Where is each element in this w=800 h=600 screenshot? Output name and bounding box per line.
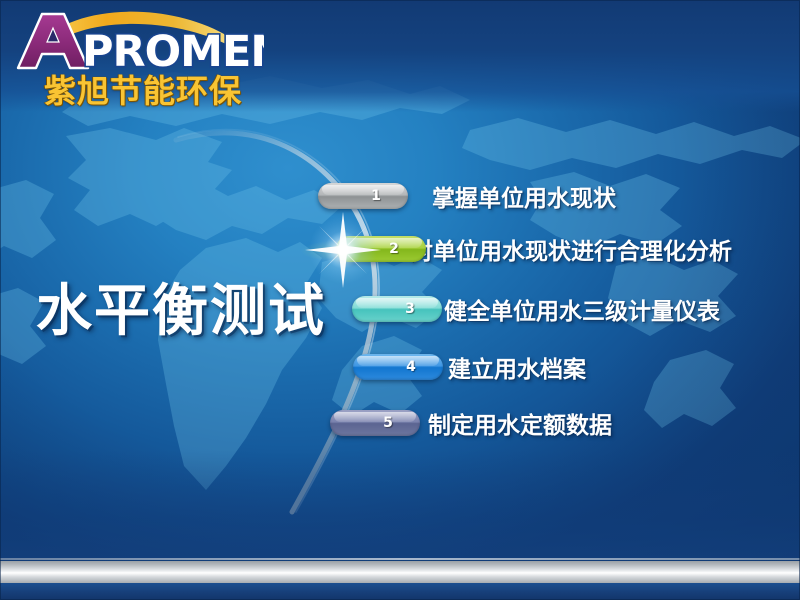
list-item[interactable]: 2 对单位用水现状进行合理化分析	[0, 234, 732, 264]
silver-divider-band	[0, 558, 800, 600]
list-item[interactable]: 5 制定用水定额数据	[0, 408, 612, 438]
step-number-badge[interactable]: 3	[352, 296, 442, 322]
list-item[interactable]: 3 健全单位用水三级计量仪表	[0, 294, 720, 324]
list-item[interactable]: 1 掌握单位用水现状	[0, 181, 616, 211]
band-footer-fill	[0, 583, 800, 600]
list-item-label: 制定用水定额数据	[428, 406, 612, 440]
step-number-badge[interactable]: 1	[318, 183, 408, 209]
bullet-list: 1 掌握单位用水现状 2 对单位用水现状进行合理化分析 3 健全单位用水三级计量…	[0, 0, 800, 600]
step-number-badge[interactable]: 4	[353, 354, 443, 380]
list-item-label: 健全单位用水三级计量仪表	[444, 292, 720, 326]
list-item[interactable]: 4 建立用水档案	[0, 352, 586, 382]
band-hairline-top	[0, 558, 800, 560]
step-number: 4	[353, 354, 443, 380]
step-number: 5	[330, 410, 420, 436]
band-silver-strip	[0, 561, 800, 583]
step-number: 2	[336, 236, 426, 262]
step-number-badge[interactable]: 5	[330, 410, 420, 436]
list-item-label: 建立用水档案	[448, 350, 586, 384]
presentation-slide: PROMEN 紫旭节能环保 水平衡测试 1 掌握单位用水现状 2 对单位用水现状…	[0, 0, 800, 600]
list-item-label: 对单位用水现状进行合理化分析	[410, 232, 732, 266]
step-number: 1	[318, 183, 408, 209]
list-item-label: 掌握单位用水现状	[432, 179, 616, 213]
step-number-badge[interactable]: 2	[336, 236, 426, 262]
step-number: 3	[352, 296, 442, 322]
